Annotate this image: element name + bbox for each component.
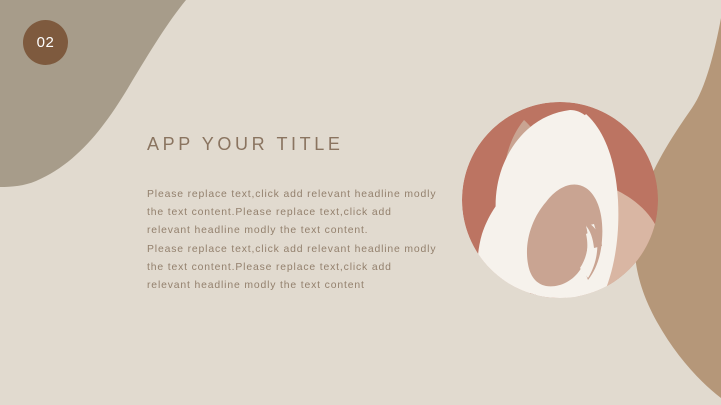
slide-number-badge: 02 [23,20,68,65]
woman-profile-illustration [462,102,658,298]
page-title: APP YOUR TITLE [147,134,343,155]
presentation-slide: 02 APP YOUR TITLE Please replace text,cl… [0,0,721,405]
body-paragraph-1: Please replace text,click add relevant h… [147,186,437,241]
body-copy: Please replace text,click add relevant h… [147,186,437,295]
body-paragraph-2: Please replace text,click add relevant h… [147,241,437,296]
slide-number-label: 02 [37,34,55,51]
